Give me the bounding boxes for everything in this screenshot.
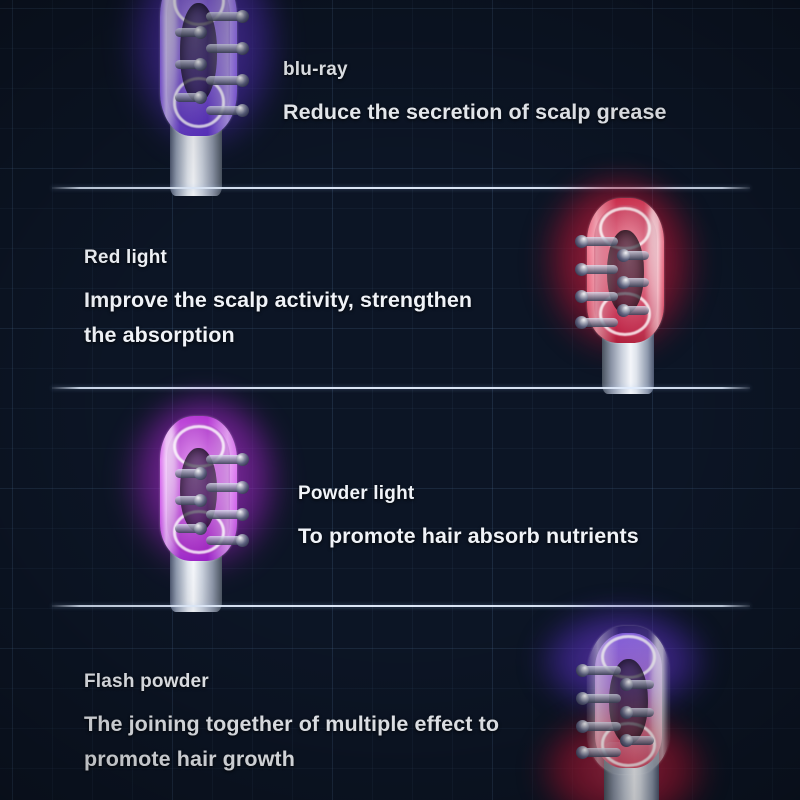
comb-pin (206, 536, 243, 545)
head-highlight (647, 204, 659, 335)
head-bezel (160, 416, 237, 561)
comb-pin (206, 455, 243, 464)
section-line: The joining together of multiple effect … (84, 707, 499, 742)
comb-pin (175, 60, 202, 69)
laser-comb-blue-device (152, 0, 256, 196)
head-bezel (160, 0, 237, 136)
comb-pin (175, 496, 202, 505)
comb-pin (580, 292, 617, 301)
laser-comb-pink-device (152, 416, 256, 612)
comb-pin (625, 708, 654, 717)
head-highlight (651, 632, 664, 765)
section-line: To promote hair absorb nutrients (298, 519, 639, 554)
comb-pin (625, 736, 654, 745)
divider-1 (52, 187, 750, 189)
section-kicker: Red light (84, 248, 472, 268)
device-light-head (160, 0, 237, 136)
section-powder-light-text: Powder light To promote hair absorb nutr… (298, 484, 639, 554)
laser-comb-multicolor-device (568, 626, 678, 800)
head-core (607, 230, 644, 314)
laser-comb-red-device (568, 198, 672, 394)
head-ring-top (601, 635, 656, 679)
comb-pin (175, 524, 202, 533)
comb-pin (206, 510, 243, 519)
divider-3 (52, 605, 750, 607)
section-kicker: blu-ray (283, 60, 667, 80)
head-bezel (588, 626, 669, 774)
device-handle (602, 312, 654, 394)
comb-pin (206, 76, 243, 85)
device-light-head (587, 198, 664, 343)
head-ring-top (173, 0, 225, 26)
head-ring-top (599, 207, 651, 251)
device-handle (170, 99, 222, 196)
red-glow (539, 178, 701, 358)
product-feature-image: blu-ray Reduce the secretion of scalp gr… (0, 0, 800, 800)
head-highlight (165, 0, 177, 126)
head-bezel (587, 198, 664, 343)
comb-pin (175, 28, 202, 37)
head-plate (167, 423, 230, 555)
head-ring-bottom (173, 77, 225, 127)
comb-pin (175, 93, 202, 102)
comb-pin (206, 483, 243, 492)
comb-pin (625, 680, 654, 689)
head-core (180, 448, 217, 532)
section-flash-powder-text: Flash powder The joining together of mul… (84, 672, 499, 777)
comb-pin (175, 469, 202, 478)
section-line: Improve the scalp activity, strengthen (84, 283, 472, 318)
head-core (609, 659, 648, 745)
head-plate (595, 633, 662, 768)
comb-pin (581, 666, 621, 675)
section-line: promote hair growth (84, 742, 499, 777)
head-ring-bottom (601, 722, 656, 766)
section-line: Reduce the secretion of scalp grease (283, 95, 667, 130)
section-blu-ray-text: blu-ray Reduce the secretion of scalp gr… (283, 60, 667, 130)
comb-pin (622, 278, 649, 287)
section-line: the absorption (84, 318, 472, 353)
section-red-light-text: Red light Improve the scalp activity, st… (84, 248, 472, 353)
section-kicker: Flash powder (84, 672, 499, 692)
pink-glow (123, 396, 285, 576)
head-ring-bottom (173, 510, 225, 554)
blue-glow (123, 0, 285, 155)
comb-pin (581, 722, 621, 731)
head-plate (594, 205, 657, 337)
comb-pin (206, 44, 243, 53)
head-plate (167, 0, 230, 129)
comb-pin (581, 748, 621, 757)
comb-pin (206, 106, 243, 115)
comb-pin (206, 12, 243, 21)
device-light-head (588, 626, 669, 774)
comb-pin (622, 306, 649, 315)
device-handle (604, 742, 659, 800)
divider-2 (52, 387, 750, 389)
device-handle (170, 530, 222, 612)
comb-pin (580, 265, 617, 274)
comb-pin (580, 318, 617, 327)
violet-glow (537, 606, 709, 716)
section-kicker: Powder light (298, 484, 639, 504)
head-core (180, 3, 217, 102)
head-ring-top (173, 425, 225, 469)
comb-pin (580, 237, 617, 246)
head-highlight (165, 422, 177, 553)
comb-pin (622, 251, 649, 260)
comb-pin (581, 694, 621, 703)
head-ring-bottom (599, 292, 651, 336)
red-glow (537, 710, 709, 800)
device-light-head (160, 416, 237, 561)
